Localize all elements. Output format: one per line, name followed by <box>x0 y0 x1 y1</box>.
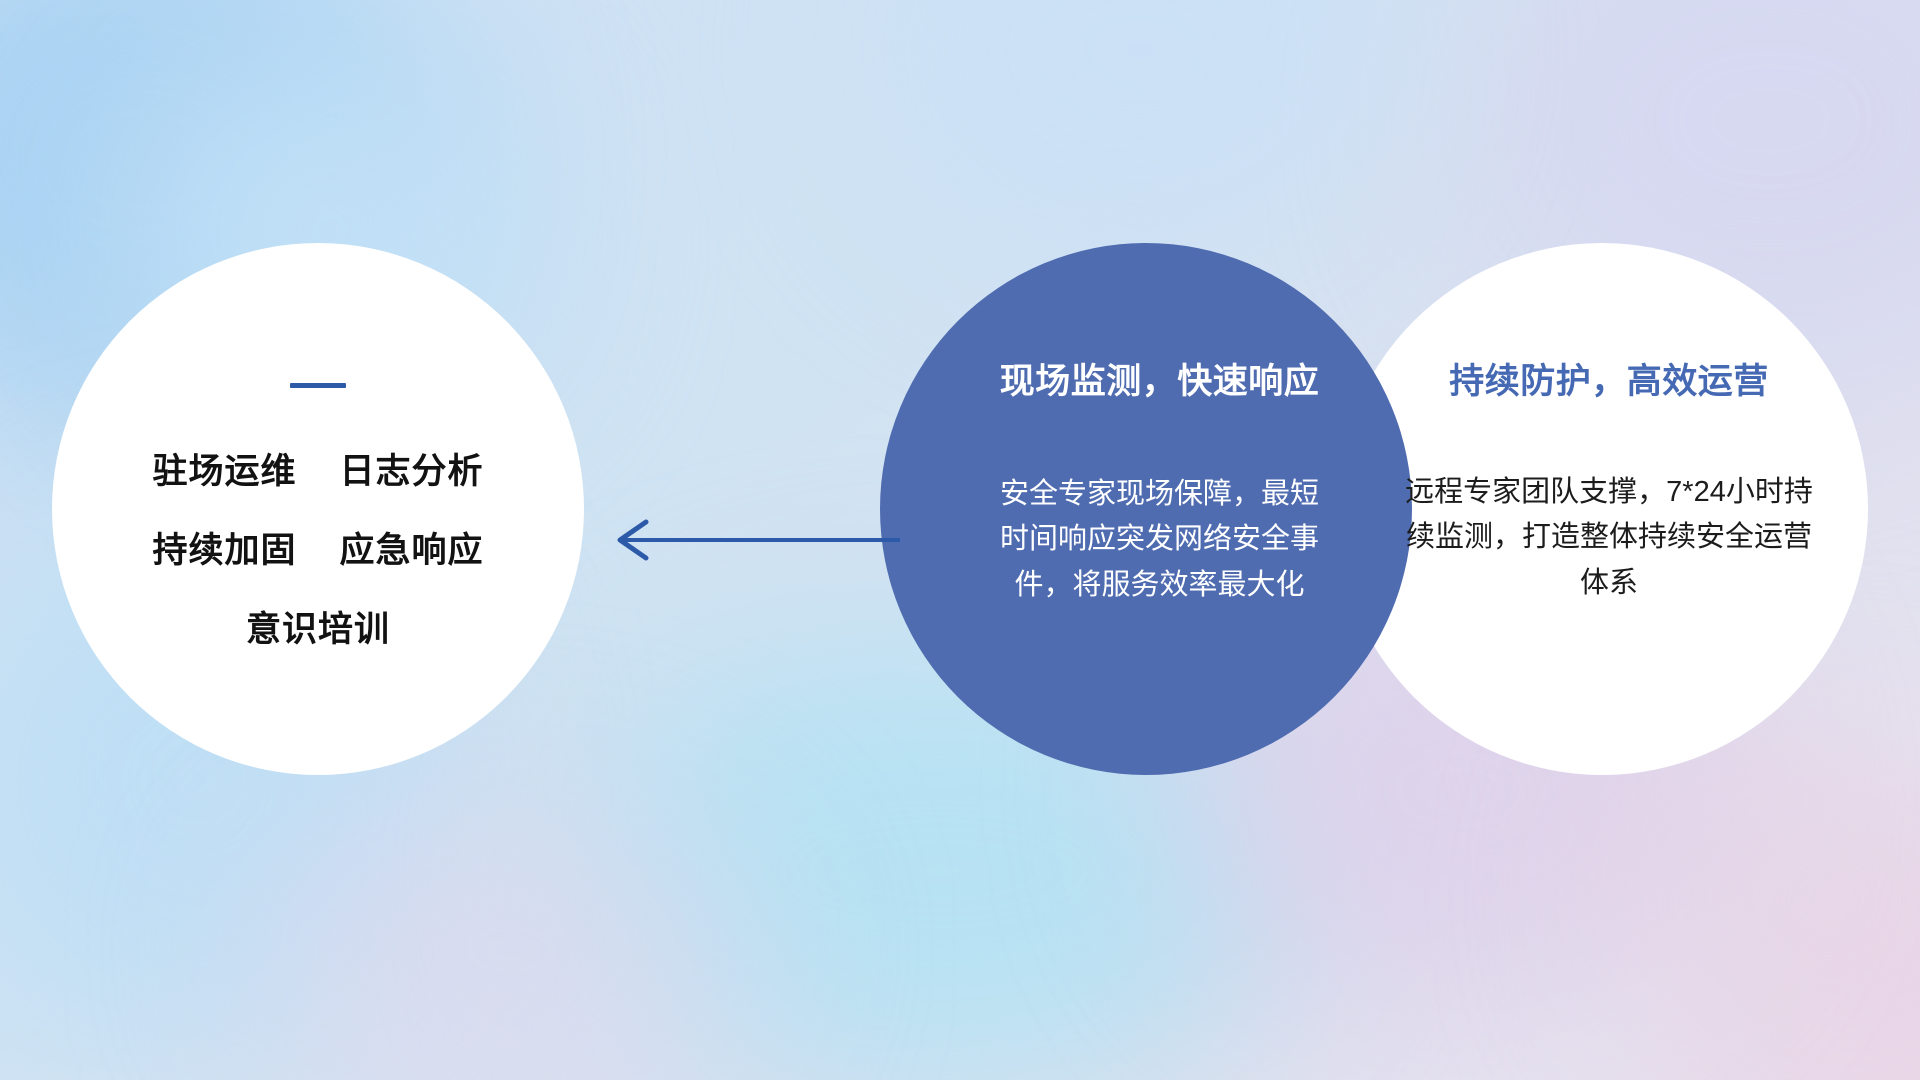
middle-card-title: 现场监测，快速响应 <box>1000 363 1320 402</box>
slide-canvas: 驻场运维 日志分析 持续加固 应急响应 意识培训 现场监测，快速响应 安全专家现… <box>0 0 1920 1080</box>
left-card: 驻场运维 日志分析 持续加固 应急响应 意识培训 <box>52 243 584 775</box>
middle-card: 现场监测，快速响应 安全专家现场保障，最短时间响应突发网络安全事件，将服务效率最… <box>880 243 1412 775</box>
right-card: 持续防护，高效运营 远程专家团队支撑，7*24小时持续监测，打造整体持续安全运营… <box>1336 243 1868 775</box>
left-card-line-1: 驻场运维 日志分析 <box>153 454 484 489</box>
arrow-icon <box>600 500 900 580</box>
left-card-line-3: 意识培训 <box>246 612 390 647</box>
background-blob <box>250 800 770 1080</box>
left-card-divider <box>290 383 346 388</box>
left-card-line-2: 持续加固 应急响应 <box>153 533 484 568</box>
middle-card-body: 安全专家现场保障，最短时间响应突发网络安全事件，将服务效率最大化 <box>1000 472 1320 609</box>
right-card-body: 远程专家团队支撑，7*24小时持续监测，打造整体持续安全运营体系 <box>1399 470 1819 607</box>
background-blob <box>880 0 1400 260</box>
right-card-title: 持续防护，高效运营 <box>1449 363 1769 402</box>
